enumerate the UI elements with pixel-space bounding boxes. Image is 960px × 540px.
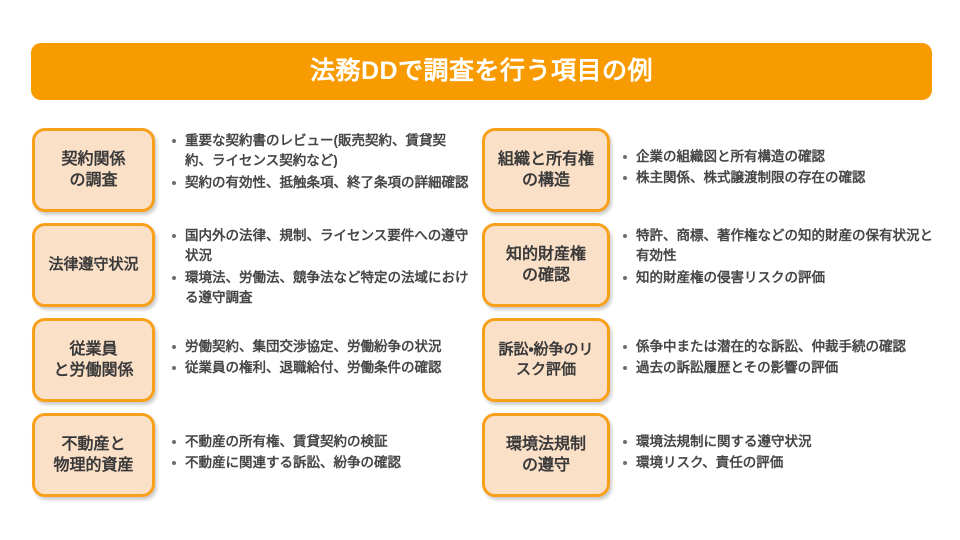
topic-row: 契約関係の調査 重要な契約書のレビュー(販売契約、賃貸契約、ライセンス契約など)… — [32, 128, 470, 212]
topic-row: 不動産と物理的資産 不動産の所有権、賃貸契約の検証 不動産に関連する訴訟、紛争の… — [32, 413, 470, 497]
list-item: 環境法規制に関する遵守状況 — [622, 432, 935, 452]
topic-row: 訴訟・紛争のリスク評価 係争中または潜在的な訴訟、仲裁手続の確認 過去の訴訟履歴… — [482, 318, 935, 402]
list-item: 不動産の所有権、賃貸契約の検証 — [171, 432, 470, 452]
topic-label-real-estate[interactable]: 不動産と物理的資産 — [32, 413, 155, 497]
list-item: 不動産に関連する訴訟、紛争の確認 — [171, 453, 470, 473]
topic-label-litigation[interactable]: 訴訟・紛争のリスク評価 — [482, 318, 610, 402]
list-item: 株主関係、株式譲渡制限の存在の確認 — [622, 168, 935, 188]
list-item: 従業員の権利、退職給付、労働条件の確認 — [171, 358, 470, 378]
list-item: 企業の組織図と所有構造の確認 — [622, 147, 935, 167]
right-column: 組織と所有権の構造 企業の組織図と所有構造の確認 株主関係、株式譲渡制限の存在の… — [482, 128, 935, 508]
topic-bullets: 係争中または潜在的な訴訟、仲裁手続の確認 過去の訴訟履歴とその影響の評価 — [610, 318, 935, 380]
topic-bullets: 特許、商標、著作権などの知的財産の保有状況と有効性 知的財産権の侵害リスクの評価 — [610, 223, 935, 289]
topic-bullets: 不動産の所有権、賃貸契約の検証 不動産に関連する訴訟、紛争の確認 — [155, 413, 470, 475]
list-item: 過去の訴訟履歴とその影響の評価 — [622, 358, 935, 378]
list-item: 重要な契約書のレビュー(販売契約、賃貸契約、ライセンス契約など) — [171, 131, 470, 172]
topic-row: 組織と所有権の構造 企業の組織図と所有構造の確認 株主関係、株式譲渡制限の存在の… — [482, 128, 935, 212]
topic-label-contracts[interactable]: 契約関係の調査 — [32, 128, 155, 212]
list-item: 知的財産権の侵害リスクの評価 — [622, 268, 935, 288]
topic-row: 従業員と労働関係 労働契約、集団交渉協定、労働紛争の状況 従業員の権利、退職給付… — [32, 318, 470, 402]
topic-label-environmental[interactable]: 環境法規制の遵守 — [482, 413, 610, 497]
topic-bullets: 労働契約、集団交渉協定、労働紛争の状況 従業員の権利、退職給付、労働条件の確認 — [155, 318, 470, 380]
list-item: 契約の有効性、抵触条項、終了条項の詳細確認 — [171, 173, 470, 193]
title-banner: 法務DDで調査を行う項目の例 — [31, 43, 932, 100]
list-item: 環境リスク、責任の評価 — [622, 453, 935, 473]
topic-label-employment[interactable]: 従業員と労働関係 — [32, 318, 155, 402]
topic-bullets: 国内外の法律、規制、ライセンス要件への遵守状況 環境法、労働法、競争法など特定の… — [155, 223, 470, 309]
list-item: 特許、商標、著作権などの知的財産の保有状況と有効性 — [622, 226, 935, 267]
slide-canvas: 法務DDで調査を行う項目の例 契約関係の調査 重要な契約書のレビュー(販売契約、… — [0, 0, 960, 540]
list-item: 労働契約、集団交渉協定、労働紛争の状況 — [171, 337, 470, 357]
list-item: 環境法、労働法、競争法など特定の法域における遵守調査 — [171, 268, 470, 309]
left-column: 契約関係の調査 重要な契約書のレビュー(販売契約、賃貸契約、ライセンス契約など)… — [32, 128, 470, 508]
topic-row: 知的財産権の確認 特許、商標、著作権などの知的財産の保有状況と有効性 知的財産権… — [482, 223, 935, 307]
page-title: 法務DDで調査を行う項目の例 — [310, 59, 653, 84]
topic-label-compliance[interactable]: 法律遵守状況 — [32, 223, 155, 307]
list-item: 係争中または潜在的な訴訟、仲裁手続の確認 — [622, 337, 935, 357]
topic-row: 環境法規制の遵守 環境法規制に関する遵守状況 環境リスク、責任の評価 — [482, 413, 935, 497]
topic-label-intellectual-property[interactable]: 知的財産権の確認 — [482, 223, 610, 307]
topic-label-ownership[interactable]: 組織と所有権の構造 — [482, 128, 610, 212]
topic-bullets: 重要な契約書のレビュー(販売契約、賃貸契約、ライセンス契約など) 契約の有効性、… — [155, 128, 470, 194]
topic-bullets: 環境法規制に関する遵守状況 環境リスク、責任の評価 — [610, 413, 935, 475]
topic-bullets: 企業の組織図と所有構造の確認 株主関係、株式譲渡制限の存在の確認 — [610, 128, 935, 190]
list-item: 国内外の法律、規制、ライセンス要件への遵守状況 — [171, 226, 470, 267]
topic-row: 法律遵守状況 国内外の法律、規制、ライセンス要件への遵守状況 環境法、労働法、競… — [32, 223, 470, 307]
